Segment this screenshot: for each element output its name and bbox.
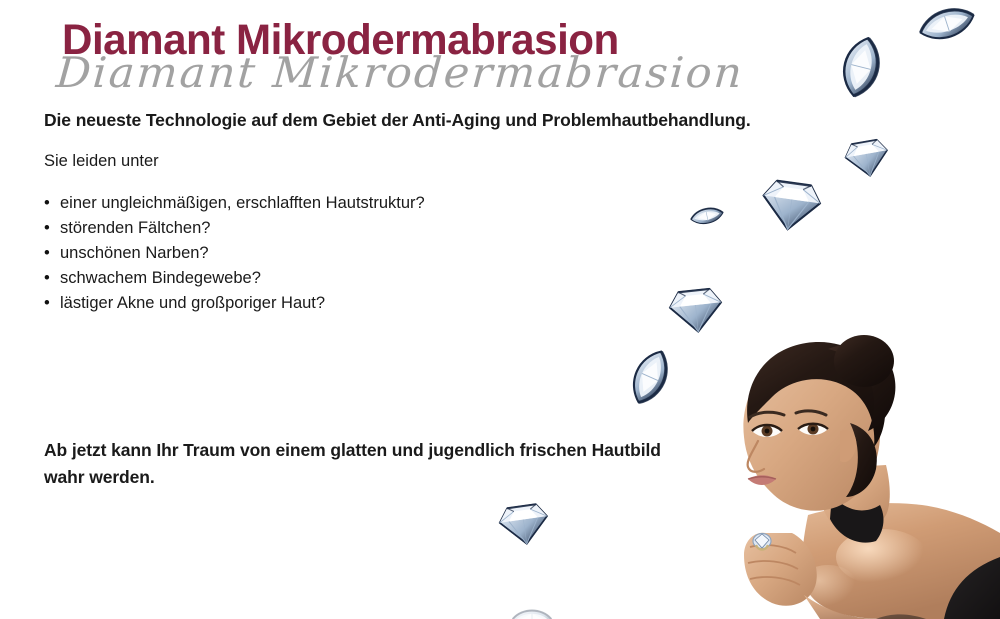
diamond-lower-center-icon xyxy=(618,342,682,413)
page-title: Diamant Mikrodermabrasion xyxy=(62,16,619,65)
ring-icon xyxy=(753,534,771,550)
list-item: störenden Fältchen? xyxy=(44,216,425,241)
diamond-bottom-faint-icon xyxy=(512,606,552,619)
poster-canvas: Diamant Mikrodermabrasion Diamant Mikrod… xyxy=(0,0,1000,619)
list-item: lästiger Akne und großporiger Haut? xyxy=(44,291,425,316)
diamond-upper-right-icon xyxy=(829,31,893,103)
diamond-mid-right-icon xyxy=(841,134,893,181)
subheading: Sie leiden unter xyxy=(44,152,159,171)
list-item: unschönen Narben? xyxy=(44,241,425,266)
woman-portrait xyxy=(700,319,1000,619)
headline-block: Diamant Mikrodermabrasion Diamant Mikrod… xyxy=(58,10,758,100)
symptom-list: einer ungleichmäßigen, erschlafften Haut… xyxy=(44,191,425,316)
diamond-top-right-icon xyxy=(913,0,981,52)
lead-paragraph: Die neueste Technologie auf dem Gebiet d… xyxy=(44,110,751,131)
diamond-bottom-left-icon xyxy=(495,499,553,550)
list-item: einer ungleichmäßigen, erschlafften Haut… xyxy=(44,191,425,216)
diamond-center-right-icon xyxy=(757,174,826,236)
list-item: schwachem Bindegewebe? xyxy=(44,266,425,291)
diamond-small-left-upper-icon xyxy=(688,202,726,231)
closing-paragraph: Ab jetzt kann Ihr Traum von einem glatte… xyxy=(44,437,684,491)
